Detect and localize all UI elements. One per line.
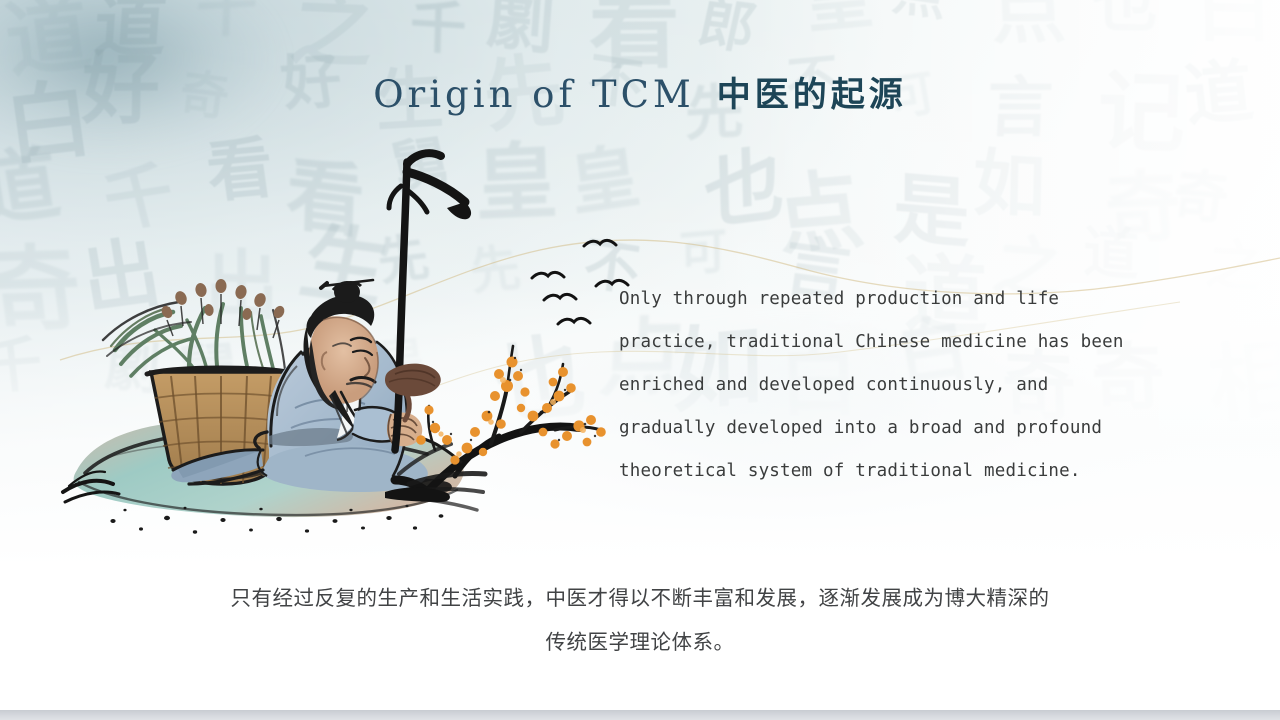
window-bottom-strip <box>0 710 1280 720</box>
calligraphy-glyph: 是 <box>892 171 969 254</box>
calligraphy-glyph: 也 <box>1092 0 1158 37</box>
body-en-line: enriched and developed continuously, and <box>619 364 1209 407</box>
slide-canvas: 道道千之千劇看郎皇点点也白白好奇好生先不先不可言记道道千看看舅皇皇也点是如奇奇奇… <box>0 0 1280 710</box>
title-chinese: 中医的起源 <box>717 75 907 115</box>
calligraphy-glyph: 之 <box>286 0 380 73</box>
calligraphy-glyph: 奇 <box>1170 167 1231 226</box>
illustration-elder-herbalist <box>55 140 615 540</box>
calligraphy-glyph: 道 <box>1083 224 1140 285</box>
calligraphy-glyph: 奇 <box>1102 168 1184 247</box>
calligraphy-glyph: 如 <box>972 148 1046 225</box>
body-zh-line: 只有经过反复的生产和生活实践，中医才得以不断丰富和发展，逐渐发展成为博大精深的 <box>0 576 1280 620</box>
calligraphy-glyph: 千 <box>195 0 259 42</box>
calligraphy-glyph: 看 <box>589 0 681 74</box>
body-en-line: gradually developed into a broad and pro… <box>619 407 1209 450</box>
calligraphy-glyph: 道 <box>91 0 169 63</box>
calligraphy-glyph: 也 <box>703 143 785 234</box>
body-zh-line: 传统医学理论体系。 <box>0 620 1280 664</box>
calligraphy-glyph: 点 <box>770 168 868 261</box>
calligraphy-glyph: 郎 <box>693 0 761 57</box>
body-en-line: Only through repeated production and lif… <box>619 278 1209 321</box>
calligraphy-glyph: 皇 <box>799 0 877 37</box>
calligraphy-glyph: 点 <box>989 0 1068 47</box>
calligraphy-glyph: 千 <box>409 0 467 58</box>
body-en-line: practice, traditional Chinese medicine h… <box>619 321 1209 364</box>
calligraphy-glyph: 劇 <box>484 0 557 59</box>
calligraphy-glyph: 千 <box>0 334 45 398</box>
body-en-line: theoretical system of traditional medici… <box>619 450 1209 493</box>
page-title: Origin of TCM中医的起源 <box>0 68 1280 117</box>
title-english: Origin of TCM <box>373 73 695 116</box>
calligraphy-glyph: 白 <box>1194 0 1274 48</box>
calligraphy-glyph: 之 <box>1203 237 1266 294</box>
body-paragraph-chinese: 只有经过反复的生产和生活实践，中医才得以不断丰富和发展，逐渐发展成为博大精深的 … <box>0 576 1280 664</box>
body-paragraph-english: Only through repeated production and lif… <box>619 278 1209 493</box>
calligraphy-glyph: 点 <box>890 0 953 24</box>
calligraphy-glyph: 相 <box>1205 335 1280 427</box>
